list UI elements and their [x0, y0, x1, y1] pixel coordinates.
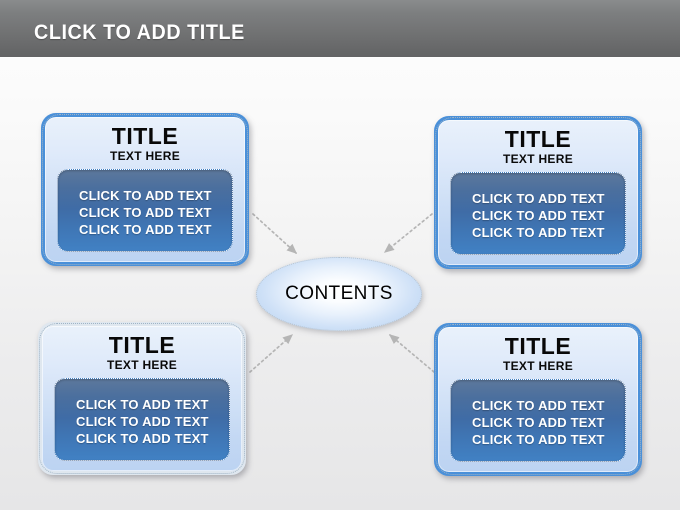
- card-title-bottom-left: TITLE: [42, 334, 242, 357]
- card-subtitle-bottom-right: TEXT HERE: [438, 360, 638, 372]
- card-title-bottom-right: TITLE: [438, 335, 638, 358]
- card-body-line: CLICK TO ADD TEXT: [76, 413, 229, 430]
- content-card-top-right[interactable]: TITLE TEXT HERE CLICK TO ADD TEXT CLICK …: [434, 116, 642, 269]
- center-contents-ellipse[interactable]: CONTENTS: [256, 257, 422, 331]
- slide-canvas: CLICK TO ADD TITLE TITLE TEXT HERE CLICK…: [0, 0, 680, 510]
- arrow-top-left-to-center: [253, 214, 296, 253]
- card-body-line: CLICK TO ADD TEXT: [76, 430, 229, 447]
- arrow-top-right-to-center: [385, 214, 432, 252]
- card-body-top-right[interactable]: CLICK TO ADD TEXT CLICK TO ADD TEXT CLIC…: [450, 172, 626, 255]
- card-body-line: CLICK TO ADD TEXT: [472, 414, 625, 431]
- content-card-bottom-right[interactable]: TITLE TEXT HERE CLICK TO ADD TEXT CLICK …: [434, 323, 642, 476]
- card-body-top-left[interactable]: CLICK TO ADD TEXT CLICK TO ADD TEXT CLIC…: [57, 169, 233, 252]
- center-contents-label: CONTENTS: [285, 283, 393, 305]
- card-subtitle-top-left: TEXT HERE: [45, 150, 245, 162]
- card-title-top-left: TITLE: [45, 125, 245, 148]
- card-body-line: CLICK TO ADD TEXT: [472, 207, 625, 224]
- card-body-line: CLICK TO ADD TEXT: [472, 224, 625, 241]
- card-body-line: CLICK TO ADD TEXT: [472, 397, 625, 414]
- card-body-line: CLICK TO ADD TEXT: [79, 187, 232, 204]
- card-body-line: CLICK TO ADD TEXT: [79, 204, 232, 221]
- arrow-bottom-left-to-center: [250, 335, 292, 372]
- page-title[interactable]: CLICK TO ADD TITLE: [34, 21, 245, 45]
- card-body-line: CLICK TO ADD TEXT: [79, 221, 232, 238]
- card-body-bottom-left[interactable]: CLICK TO ADD TEXT CLICK TO ADD TEXT CLIC…: [54, 378, 230, 461]
- card-title-top-right: TITLE: [438, 128, 638, 151]
- content-card-top-left[interactable]: TITLE TEXT HERE CLICK TO ADD TEXT CLICK …: [41, 113, 249, 266]
- card-subtitle-top-right: TEXT HERE: [438, 153, 638, 165]
- slide-title-bar[interactable]: CLICK TO ADD TITLE: [0, 0, 680, 57]
- card-body-line: CLICK TO ADD TEXT: [76, 396, 229, 413]
- card-body-bottom-right[interactable]: CLICK TO ADD TEXT CLICK TO ADD TEXT CLIC…: [450, 379, 626, 462]
- content-card-bottom-left[interactable]: TITLE TEXT HERE CLICK TO ADD TEXT CLICK …: [38, 322, 246, 475]
- card-subtitle-bottom-left: TEXT HERE: [42, 359, 242, 371]
- card-body-line: CLICK TO ADD TEXT: [472, 190, 625, 207]
- card-body-line: CLICK TO ADD TEXT: [472, 431, 625, 448]
- arrow-bottom-right-to-center: [390, 335, 434, 372]
